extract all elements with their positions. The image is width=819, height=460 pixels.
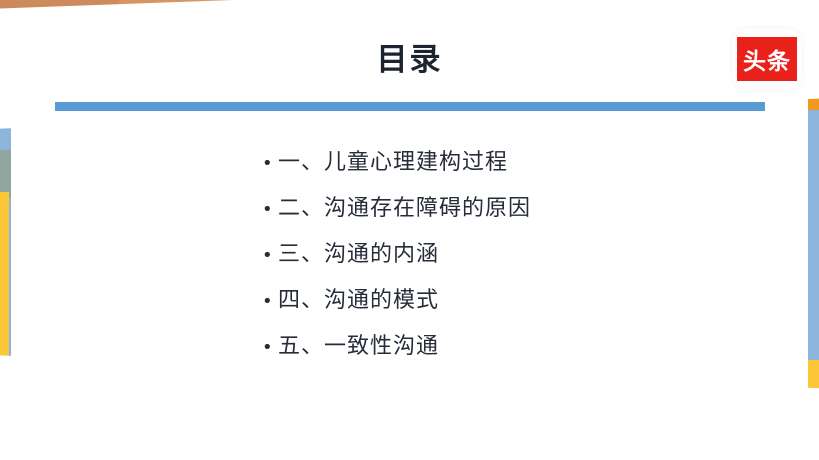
list-item-label: 五、一致性沟通 <box>278 324 439 370</box>
page-title: 目录 <box>0 40 819 80</box>
list-item[interactable]: • 五、一致性沟通 <box>262 324 742 370</box>
list-item[interactable]: • 二、沟通存在障碍的原因 <box>262 186 742 232</box>
slide-content: 目录 • 一、儿童心理建构过程 • 二、沟通存在障碍的原因 • 三、沟通的内涵 … <box>0 0 819 460</box>
bullet-icon: • <box>262 233 278 279</box>
list-item-label: 一、儿童心理建构过程 <box>278 140 508 186</box>
list-item[interactable]: • 三、沟通的内涵 <box>262 232 742 278</box>
slide-canvas: 目录 • 一、儿童心理建构过程 • 二、沟通存在障碍的原因 • 三、沟通的内涵 … <box>0 0 819 460</box>
bullet-icon: • <box>262 325 278 371</box>
title-divider <box>55 102 765 111</box>
toutiao-logo[interactable]: 头条 <box>732 28 802 90</box>
bullet-icon: • <box>262 141 278 187</box>
list-item[interactable]: • 一、儿童心理建构过程 <box>262 140 742 186</box>
bullet-icon: • <box>262 279 278 325</box>
logo-badge-label: 头条 <box>737 37 797 81</box>
list-item-label: 四、沟通的模式 <box>278 278 439 324</box>
list-item-label: 三、沟通的内涵 <box>278 232 439 278</box>
bullet-icon: • <box>262 187 278 233</box>
table-of-contents: • 一、儿童心理建构过程 • 二、沟通存在障碍的原因 • 三、沟通的内涵 • 四… <box>262 140 742 370</box>
list-item[interactable]: • 四、沟通的模式 <box>262 278 742 324</box>
list-item-label: 二、沟通存在障碍的原因 <box>278 186 531 232</box>
